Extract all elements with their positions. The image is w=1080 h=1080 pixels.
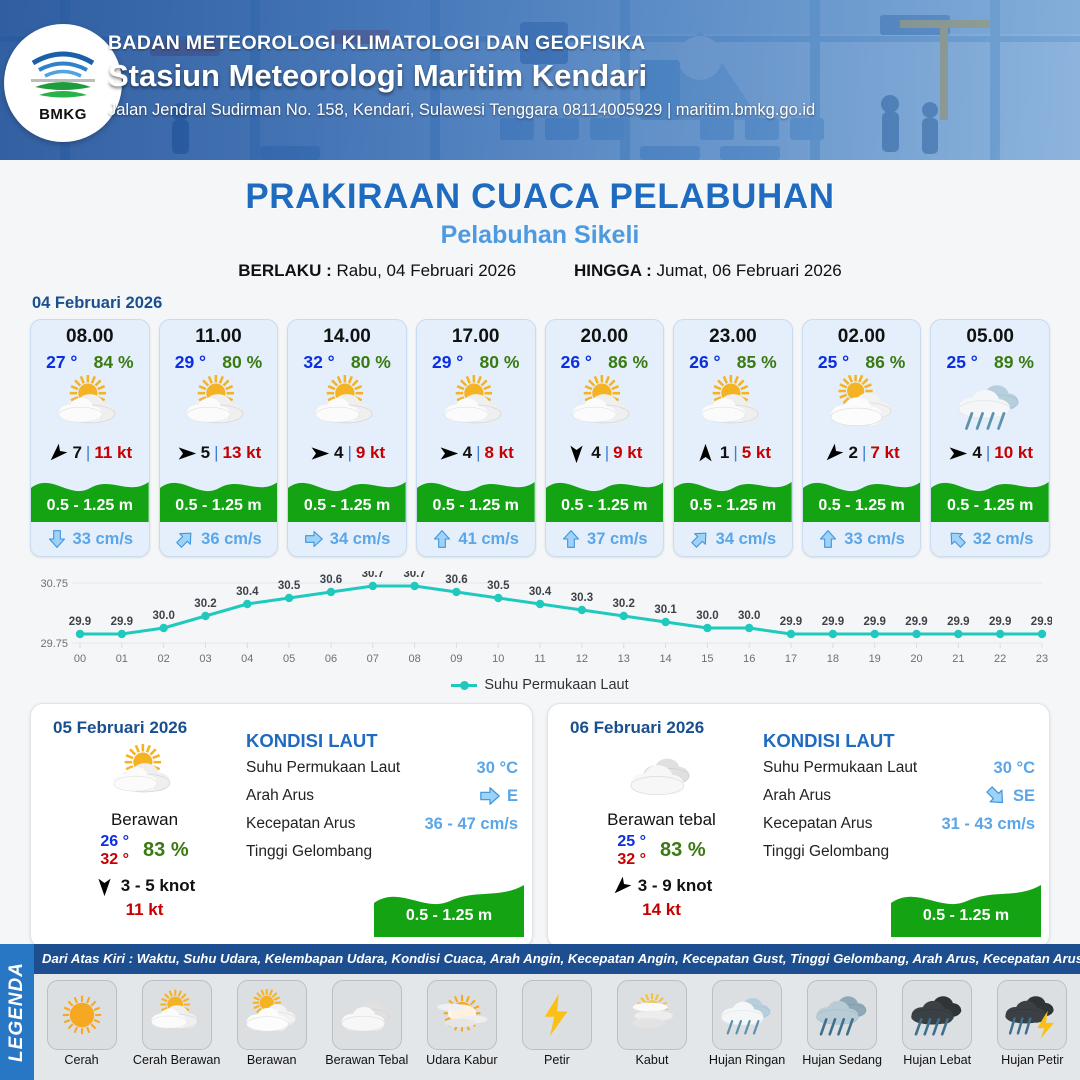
- humidity: 89 %: [994, 352, 1034, 373]
- sea-condition-row: Kecepatan Arus36 - 47 cm/s: [246, 810, 518, 838]
- svg-text:29.9: 29.9: [69, 616, 91, 628]
- day-wind-speed: 3 - 9 knot: [638, 876, 713, 896]
- day-temp-humidity: 26 ° 32 ° 83 %: [47, 833, 242, 869]
- current-speed: 37 cm/s: [587, 530, 648, 549]
- forecast-card: 17.00 29 ° 80 % 4 | 8 kt: [416, 319, 536, 557]
- legend-item-label: Cerah Berawan: [133, 1053, 221, 1067]
- temp-humidity-row: 27 ° 84 %: [31, 352, 149, 373]
- svg-text:30.0: 30.0: [153, 610, 175, 622]
- svg-text:30.7: 30.7: [403, 571, 425, 580]
- forecast-time: 02.00: [803, 326, 921, 348]
- forecast-date-label: 04 Februari 2026: [32, 294, 1080, 313]
- sea-row-value: SE: [1013, 787, 1035, 806]
- chart-legend-label: Suhu Permukaan Laut: [484, 677, 628, 693]
- legend-item-label: Petir: [513, 1053, 601, 1067]
- day-gust: 14 kt: [564, 900, 759, 920]
- legend-item: Cerah: [38, 980, 126, 1067]
- legend-item: Udara Kabur: [418, 980, 506, 1067]
- temp-humidity-row: 32 ° 80 %: [288, 352, 406, 373]
- wave-height: 0.5 - 1.25 m: [803, 497, 921, 515]
- svg-text:08: 08: [408, 653, 420, 665]
- legend-item: Cerah Berawan: [133, 980, 221, 1067]
- svg-text:14: 14: [659, 653, 671, 665]
- humidity: 85 %: [737, 352, 777, 373]
- current-speed: 33 cm/s: [73, 530, 134, 549]
- weather-icon-cerah-berawan: [54, 375, 126, 437]
- current-direction-icon: [947, 529, 967, 549]
- valid-to-label: HINGGA :: [574, 261, 652, 280]
- wind-speed: 1: [720, 443, 729, 463]
- forecast-time: 23.00: [674, 326, 792, 348]
- legend-icon-box: [902, 980, 972, 1050]
- svg-text:29.9: 29.9: [989, 616, 1011, 628]
- humidity: 80 %: [480, 352, 520, 373]
- wave-section: 0.5 - 1.25 m: [803, 470, 921, 522]
- legend-icon-box: [332, 980, 402, 1050]
- svg-text:29.9: 29.9: [780, 616, 802, 628]
- weather-icon-petir: [529, 989, 585, 1041]
- svg-text:30.3: 30.3: [571, 592, 593, 604]
- sea-conditions: KONDISI LAUT Suhu Permukaan Laut30 °C Ar…: [246, 730, 518, 866]
- wind-row: 1 | 5 kt: [674, 438, 792, 468]
- svg-text:13: 13: [618, 653, 630, 665]
- weather-icon-hujan-ringan: [954, 375, 1026, 437]
- station-name: Stasiun Meteorologi Maritim Kendari: [108, 58, 815, 94]
- current-speed: 36 cm/s: [201, 530, 262, 549]
- weather-icon-hujan-petir: [1004, 989, 1060, 1041]
- wind-direction-icon: [566, 443, 587, 464]
- page-title: PRAKIRAAN CUACA PELABUHAN: [0, 177, 1080, 217]
- valid-to: HINGGA : Jumat, 06 Februari 2026: [574, 261, 842, 281]
- page-header: BMKG BADAN METEOROLOGI KLIMATOLOGI DAN G…: [0, 0, 1080, 160]
- day-wind-row: 3 - 5 knot: [47, 876, 242, 897]
- forecast-time: 17.00: [417, 326, 535, 348]
- agency-name: BADAN METEOROLOGI KLIMATOLOGI DAN GEOFIS…: [108, 32, 815, 55]
- day-wind-row: 3 - 9 knot: [564, 876, 759, 897]
- current-row: 33 cm/s: [803, 522, 921, 556]
- sea-condition-row: Suhu Permukaan Laut30 °C: [246, 754, 518, 782]
- current-speed: 34 cm/s: [716, 530, 777, 549]
- temp-humidity-row: 29 ° 80 %: [160, 352, 278, 373]
- weather-condition-icon: [288, 375, 406, 437]
- sea-row-key: Arah Arus: [246, 787, 314, 805]
- current-direction-icon: [432, 529, 452, 549]
- gust-speed: 8 kt: [484, 443, 513, 463]
- svg-text:17: 17: [785, 653, 797, 665]
- weather-icon-berawan-tebal: [624, 744, 700, 806]
- weather-condition-icon: [803, 375, 921, 437]
- svg-text:29.9: 29.9: [947, 616, 969, 628]
- current-speed: 32 cm/s: [973, 530, 1034, 549]
- svg-text:29.9: 29.9: [111, 616, 133, 628]
- gust-speed: 9 kt: [356, 443, 385, 463]
- day-weather-icon: [47, 744, 242, 806]
- wind-speed: 4: [334, 443, 343, 463]
- current-direction-icon: [47, 529, 67, 549]
- wave-height: 0.5 - 1.25 m: [31, 497, 149, 515]
- legend-item-label: Udara Kabur: [418, 1053, 506, 1067]
- svg-text:09: 09: [450, 653, 462, 665]
- svg-text:29.9: 29.9: [1031, 616, 1052, 628]
- svg-text:04: 04: [241, 653, 253, 665]
- gust-speed: 10 kt: [994, 443, 1033, 463]
- wind-speed: 2: [848, 443, 857, 463]
- page-subtitle: Pelabuhan Sikeli: [0, 221, 1080, 250]
- legend-item-label: Hujan Petir: [988, 1053, 1076, 1067]
- gust-speed: 13 kt: [223, 443, 262, 463]
- sst-chart-svg: 30.7529.75000102030405060708091011121314…: [28, 571, 1052, 671]
- svg-text:30.0: 30.0: [696, 610, 718, 622]
- current-direction-value: E: [479, 785, 518, 807]
- wave-section: 0.5 - 1.25 m: [417, 470, 535, 522]
- day-temp-humidity: 25 ° 32 ° 83 %: [564, 833, 759, 869]
- air-temperature: 32 °: [303, 352, 334, 373]
- daily-forecast-panel: 06 Februari 2026 Berawan tebal 25 ° 32 °…: [547, 703, 1050, 948]
- forecast-card: 05.00 25 ° 89 % 4 | 10 kt: [930, 319, 1050, 557]
- gust-speed: 9 kt: [613, 443, 642, 463]
- day-temp-min: 26 °: [100, 833, 129, 851]
- legend-icon-box: [617, 980, 687, 1050]
- humidity: 86 %: [608, 352, 648, 373]
- svg-text:30.5: 30.5: [278, 580, 301, 592]
- humidity: 80 %: [222, 352, 262, 373]
- svg-text:03: 03: [199, 653, 211, 665]
- legend-item-label: Hujan Ringan: [703, 1053, 791, 1067]
- gust-speed: 7 kt: [870, 443, 899, 463]
- air-temperature: 26 °: [561, 352, 592, 373]
- sea-condition-row: Suhu Permukaan Laut30 °C: [763, 754, 1035, 782]
- sea-condition-row: Tinggi Gelombang: [246, 838, 518, 866]
- weather-condition-icon: [417, 375, 535, 437]
- svg-text:01: 01: [116, 653, 128, 665]
- weather-icon-udara-kabur: [434, 989, 490, 1041]
- legend-icon-box: [807, 980, 877, 1050]
- temp-humidity-row: 25 ° 86 %: [803, 352, 921, 373]
- wind-separator: |: [86, 443, 90, 463]
- sea-condition-row: Tinggi Gelombang: [763, 838, 1035, 866]
- forecast-time: 05.00: [931, 326, 1049, 348]
- weather-icon-berawan: [826, 375, 898, 437]
- current-row: 37 cm/s: [546, 522, 664, 556]
- sea-conditions-title: KONDISI LAUT: [246, 730, 518, 752]
- day-temp-range: 26 ° 32 °: [100, 833, 129, 869]
- svg-text:30.6: 30.6: [320, 574, 342, 586]
- svg-text:11: 11: [534, 653, 545, 665]
- sea-condition-row: Arah Arus SE: [763, 782, 1035, 810]
- current-row: 36 cm/s: [160, 522, 278, 556]
- wave-height: 0.5 - 1.25 m: [288, 497, 406, 515]
- sea-row-value: 36 - 47 cm/s: [424, 815, 518, 834]
- wind-row: 4 | 9 kt: [288, 438, 406, 468]
- svg-text:22: 22: [994, 653, 1006, 665]
- header-text-block: BADAN METEOROLOGI KLIMATOLOGI DAN GEOFIS…: [108, 32, 815, 120]
- day-summary: Berawan tebal 25 ° 32 ° 83 % 3 - 9 knot …: [564, 744, 759, 920]
- day-temp-max: 32 °: [617, 851, 646, 869]
- svg-text:30.7: 30.7: [362, 571, 384, 580]
- day-temp-min: 25 °: [617, 833, 646, 851]
- wind-direction-icon: [823, 443, 844, 464]
- forecast-time: 14.00: [288, 326, 406, 348]
- day-condition: Berawan tebal: [564, 810, 759, 830]
- svg-text:30.75: 30.75: [40, 578, 68, 590]
- weather-icon-hujan-ringan: [719, 989, 775, 1041]
- weather-condition-icon: [674, 375, 792, 437]
- sea-condition-row: Kecepatan Arus31 - 43 cm/s: [763, 810, 1035, 838]
- humidity: 80 %: [351, 352, 391, 373]
- forecast-card: 02.00 25 ° 86 % 2 | 7 kt: [802, 319, 922, 557]
- current-row: 34 cm/s: [288, 522, 406, 556]
- day-summary: Berawan 26 ° 32 ° 83 % 3 - 5 knot 11 kt: [47, 744, 242, 920]
- weather-icon-cerah-berawan: [182, 375, 254, 437]
- current-direction-icon: [690, 529, 710, 549]
- forecast-time: 20.00: [546, 326, 664, 348]
- svg-text:29.9: 29.9: [905, 616, 927, 628]
- wind-direction-icon: [47, 443, 68, 464]
- day-temp-max: 32 °: [100, 851, 129, 869]
- forecast-card: 08.00 27 ° 84 % 7 | 11 kt: [30, 319, 150, 557]
- wave-section: 0.5 - 1.25 m: [160, 470, 278, 522]
- wind-row: 4 | 10 kt: [931, 438, 1049, 468]
- forecast-time: 08.00: [31, 326, 149, 348]
- weather-icon-cerah-berawan: [440, 375, 512, 437]
- wind-separator: |: [347, 443, 351, 463]
- forecast-card: 14.00 32 ° 80 % 4 | 9 kt: [287, 319, 407, 557]
- sea-row-key: Tinggi Gelombang: [763, 843, 889, 861]
- wave-height: 0.5 - 1.25 m: [546, 497, 664, 515]
- day-date: 06 Februari 2026: [570, 718, 704, 738]
- svg-text:29.9: 29.9: [822, 616, 844, 628]
- wind-speed: 7: [72, 443, 81, 463]
- humidity: 84 %: [94, 352, 134, 373]
- current-direction-icon: [818, 529, 838, 549]
- weather-icon-cerah-berawan: [311, 375, 383, 437]
- sea-condition-row: Arah Arus E: [246, 782, 518, 810]
- wind-direction-icon: [947, 443, 968, 464]
- air-temperature: 25 °: [946, 352, 977, 373]
- sea-row-key: Suhu Permukaan Laut: [763, 759, 917, 777]
- current-row: 41 cm/s: [417, 522, 535, 556]
- validity-row: BERLAKU : Rabu, 04 Februari 2026 HINGGA …: [0, 261, 1080, 281]
- svg-text:18: 18: [827, 653, 839, 665]
- current-row: 34 cm/s: [674, 522, 792, 556]
- sea-conditions: KONDISI LAUT Suhu Permukaan Laut30 °C Ar…: [763, 730, 1035, 866]
- day-wave-height: 0.5 - 1.25 m: [891, 907, 1041, 925]
- svg-text:29.75: 29.75: [40, 638, 68, 650]
- temp-humidity-row: 29 ° 80 %: [417, 352, 535, 373]
- wave-height: 0.5 - 1.25 m: [160, 497, 278, 515]
- svg-text:02: 02: [158, 653, 170, 665]
- day-wind-speed: 3 - 5 knot: [121, 876, 196, 896]
- wind-separator: |: [214, 443, 218, 463]
- wind-row: 4 | 9 kt: [546, 438, 664, 468]
- legend-icon-box: [522, 980, 592, 1050]
- wind-row: 5 | 13 kt: [160, 438, 278, 468]
- legend-item-label: Hujan Lebat: [893, 1053, 981, 1067]
- svg-text:06: 06: [325, 653, 337, 665]
- sea-conditions-title: KONDISI LAUT: [763, 730, 1035, 752]
- wave-height: 0.5 - 1.25 m: [931, 497, 1049, 515]
- valid-to-value: Jumat, 06 Februari 2026: [657, 261, 842, 280]
- current-direction-value: SE: [985, 785, 1035, 807]
- air-temperature: 27 °: [46, 352, 77, 373]
- sea-row-key: Kecepatan Arus: [246, 815, 355, 833]
- svg-text:29.9: 29.9: [864, 616, 886, 628]
- weather-icon-cerah-berawan: [107, 744, 183, 806]
- legend-item-label: Hujan Sedang: [798, 1053, 886, 1067]
- sea-row-key: Tinggi Gelombang: [246, 843, 372, 861]
- current-speed: 33 cm/s: [844, 530, 905, 549]
- day-humidity: 83 %: [660, 839, 706, 862]
- chart-legend: Suhu Permukaan Laut: [0, 677, 1080, 693]
- svg-text:20: 20: [910, 653, 922, 665]
- air-temperature: 29 °: [175, 352, 206, 373]
- sst-chart: 30.7529.75000102030405060708091011121314…: [28, 571, 1052, 671]
- wave-section: 0.5 - 1.25 m: [546, 470, 664, 522]
- temp-humidity-row: 25 ° 89 %: [931, 352, 1049, 373]
- current-direction-icon: [175, 529, 195, 549]
- current-direction-icon: [479, 785, 501, 807]
- sea-row-value: 31 - 43 cm/s: [941, 815, 1035, 834]
- svg-text:21: 21: [952, 653, 964, 665]
- svg-text:15: 15: [701, 653, 713, 665]
- forecast-card: 23.00 26 ° 85 % 1 | 5 kt: [673, 319, 793, 557]
- wind-direction-icon: [176, 443, 197, 464]
- wave-section: 0.5 - 1.25 m: [31, 470, 149, 522]
- current-row: 32 cm/s: [931, 522, 1049, 556]
- svg-text:30.0: 30.0: [738, 610, 760, 622]
- sea-row-value: 30 °C: [994, 759, 1035, 778]
- svg-text:30.1: 30.1: [654, 604, 677, 616]
- weather-condition-icon: [31, 375, 149, 437]
- legend-item-label: Berawan Tebal: [323, 1053, 411, 1067]
- weather-condition-icon: [931, 375, 1049, 437]
- legend-icon-box: [427, 980, 497, 1050]
- svg-text:10: 10: [492, 653, 504, 665]
- wind-separator: |: [733, 443, 737, 463]
- valid-from: BERLAKU : Rabu, 04 Februari 2026: [238, 261, 516, 281]
- wind-separator: |: [476, 443, 480, 463]
- wave-section: 0.5 - 1.25 m: [931, 470, 1049, 522]
- current-direction-icon: [561, 529, 581, 549]
- svg-text:16: 16: [743, 653, 755, 665]
- valid-from-value: Rabu, 04 Februari 2026: [336, 261, 516, 280]
- air-temperature: 29 °: [432, 352, 463, 373]
- legend-item: Kabut: [608, 980, 696, 1067]
- legend-item-label: Kabut: [608, 1053, 696, 1067]
- svg-text:05: 05: [283, 653, 295, 665]
- current-speed: 34 cm/s: [330, 530, 391, 549]
- wind-speed: 4: [591, 443, 600, 463]
- wave-height: 0.5 - 1.25 m: [417, 497, 535, 515]
- svg-text:19: 19: [869, 653, 881, 665]
- day-weather-icon: [564, 744, 759, 806]
- svg-text:12: 12: [576, 653, 588, 665]
- day-temp-range: 25 ° 32 °: [617, 833, 646, 869]
- humidity: 86 %: [865, 352, 905, 373]
- wind-direction-icon: [695, 443, 716, 464]
- wind-row: 7 | 11 kt: [31, 438, 149, 468]
- bmkg-logo-text: BMKG: [39, 106, 87, 123]
- sea-row-key: Kecepatan Arus: [763, 815, 872, 833]
- wind-separator: |: [986, 443, 990, 463]
- weather-icon-berawan-tebal: [339, 989, 395, 1041]
- wind-row: 2 | 7 kt: [803, 438, 921, 468]
- day-wave-height: 0.5 - 1.25 m: [374, 907, 524, 925]
- day-date: 05 Februari 2026: [53, 718, 187, 738]
- wind-separator: |: [862, 443, 866, 463]
- weather-icon-hujan-sedang: [814, 989, 870, 1041]
- legenda-tab: LEGENDA: [0, 944, 34, 1080]
- gust-speed: 11 kt: [94, 443, 132, 463]
- svg-text:30.6: 30.6: [445, 574, 467, 586]
- svg-text:23: 23: [1036, 653, 1048, 665]
- weather-condition-icon: [546, 375, 664, 437]
- sea-row-value: 30 °C: [477, 759, 518, 778]
- legend-item: Berawan: [228, 980, 316, 1067]
- wave-section: 0.5 - 1.25 m: [674, 470, 792, 522]
- day-gust: 11 kt: [47, 900, 242, 920]
- svg-text:30.2: 30.2: [613, 598, 635, 610]
- legend-item: Hujan Ringan: [703, 980, 791, 1067]
- wind-speed: 5: [201, 443, 210, 463]
- legenda-tab-label: LEGENDA: [6, 962, 28, 1062]
- bmkg-logo-icon: [25, 43, 101, 105]
- legend-item-label: Berawan: [228, 1053, 316, 1067]
- daily-forecast-panel: 05 Februari 2026 Berawan 26 ° 32 ° 83 %: [30, 703, 533, 948]
- wind-direction-icon: [94, 876, 115, 897]
- wind-direction-icon: [309, 443, 330, 464]
- legend-item: Petir: [513, 980, 601, 1067]
- wind-row: 4 | 8 kt: [417, 438, 535, 468]
- svg-text:30.2: 30.2: [194, 598, 216, 610]
- current-speed: 41 cm/s: [458, 530, 519, 549]
- temp-humidity-row: 26 ° 86 %: [546, 352, 664, 373]
- weather-icon-berawan: [244, 989, 300, 1041]
- legend-icon-box: [997, 980, 1067, 1050]
- temp-humidity-row: 26 ° 85 %: [674, 352, 792, 373]
- svg-text:07: 07: [367, 653, 379, 665]
- legend-item-label: Cerah: [38, 1053, 126, 1067]
- legend-caption: Dari Atas Kiri : Waktu, Suhu Udara, Kele…: [42, 951, 1072, 966]
- air-temperature: 26 °: [689, 352, 720, 373]
- legend-item: Berawan Tebal: [323, 980, 411, 1067]
- daily-forecast-list: 05 Februari 2026 Berawan 26 ° 32 ° 83 %: [0, 703, 1080, 948]
- current-direction-icon: [985, 785, 1007, 807]
- wind-speed: 4: [972, 443, 981, 463]
- weather-icon-kabut: [624, 989, 680, 1041]
- sea-row-key: Suhu Permukaan Laut: [246, 759, 400, 777]
- weather-icon-cerah: [54, 989, 110, 1041]
- current-row: 33 cm/s: [31, 522, 149, 556]
- valid-from-label: BERLAKU :: [238, 261, 332, 280]
- forecast-card: 20.00 26 ° 86 % 4 | 9 kt: [545, 319, 665, 557]
- legend-icon-box: [237, 980, 307, 1050]
- gust-speed: 5 kt: [742, 443, 771, 463]
- weather-icon-hujan-lebat: [909, 989, 965, 1041]
- wave-section: 0.5 - 1.25 m: [288, 470, 406, 522]
- legend-item: Hujan Lebat: [893, 980, 981, 1067]
- legend-item: Hujan Petir: [988, 980, 1076, 1067]
- legend-icon-box: [142, 980, 212, 1050]
- weather-icon-cerah-berawan: [697, 375, 769, 437]
- station-address: Jalan Jendral Sudirman No. 158, Kendari,…: [108, 101, 815, 120]
- forecast-card: 11.00 29 ° 80 % 5 | 13 kt: [159, 319, 279, 557]
- svg-text:30.4: 30.4: [236, 586, 259, 598]
- svg-text:30.4: 30.4: [529, 586, 552, 598]
- wind-direction-icon: [611, 876, 632, 897]
- svg-text:00: 00: [74, 653, 86, 665]
- current-direction-icon: [304, 529, 324, 549]
